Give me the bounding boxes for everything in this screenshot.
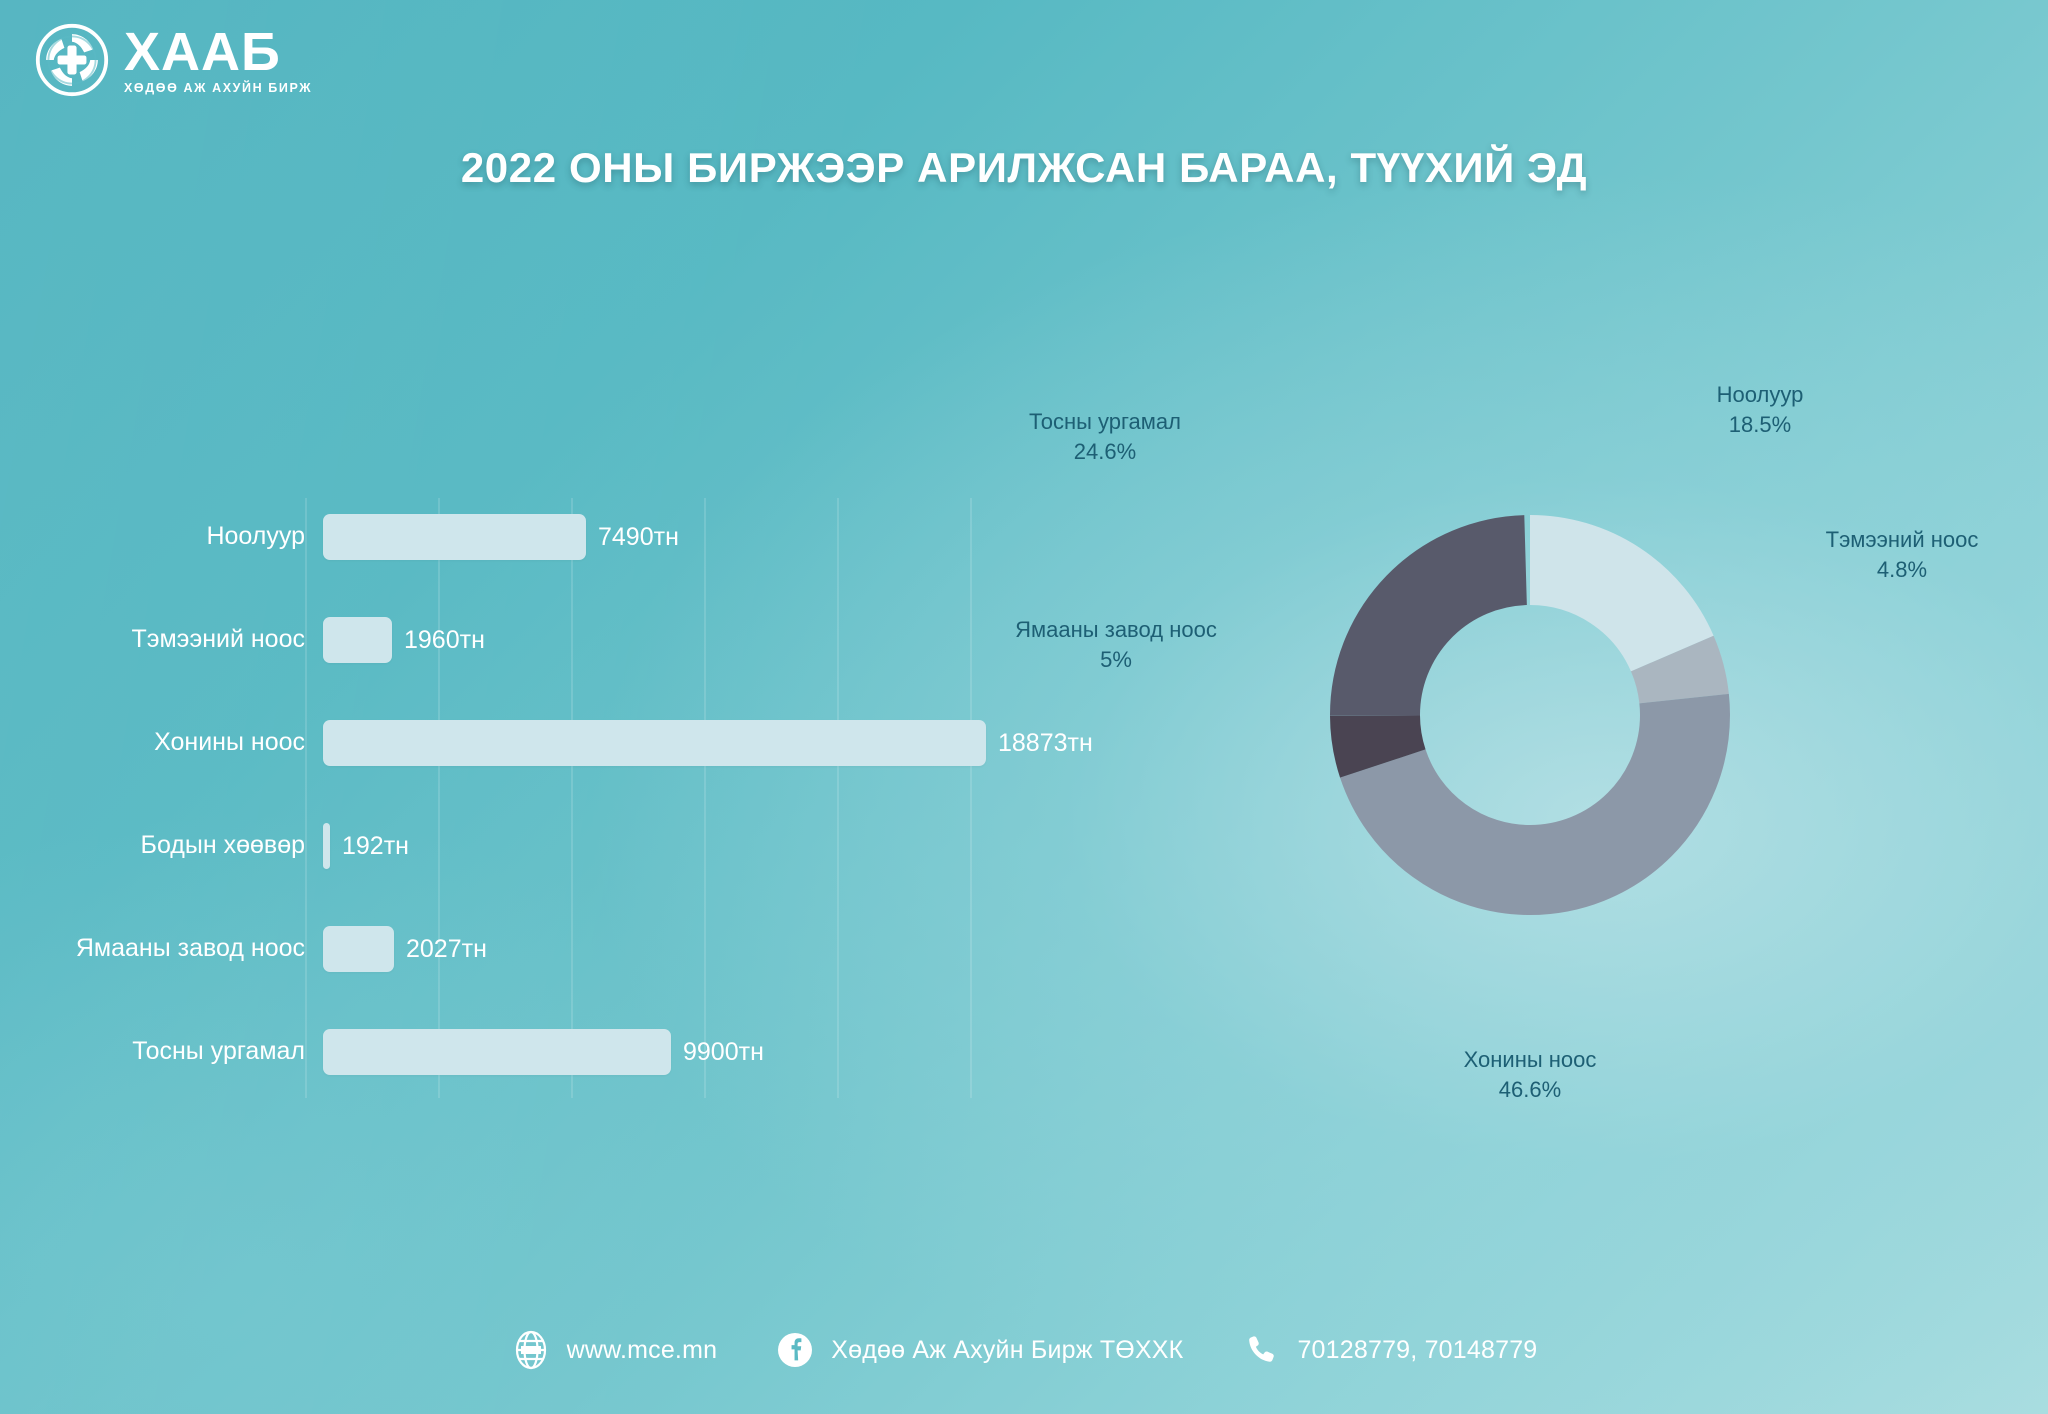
facebook-icon xyxy=(775,1330,815,1370)
pie-label-pct: 24.6% xyxy=(970,437,1240,467)
bar-row: Тэмээний ноос 1960тн xyxy=(60,601,1000,679)
bar-fill xyxy=(323,926,394,972)
bar-track: 7490тн xyxy=(323,498,1000,576)
bar-label: Бодын хөөвөр xyxy=(60,832,323,860)
brand-logo: ХААБ ХӨДӨӨ АЖ АХУЙН БИРЖ xyxy=(34,22,312,98)
bar-value: 7490тн xyxy=(598,523,679,552)
bar-value: 9900тн xyxy=(683,1038,764,1067)
bar-label: Ноолуур xyxy=(60,523,323,551)
bar-track: 2027тн xyxy=(323,910,1000,988)
phone-icon xyxy=(1241,1330,1281,1370)
bar-value: 192тн xyxy=(342,832,409,861)
bar-row: Бодын хөөвөр 192тн xyxy=(60,807,1000,885)
bar-fill xyxy=(323,1029,671,1075)
bar-track: 18873тн xyxy=(323,704,1093,782)
pie-label-text: Хонины ноос xyxy=(1464,1047,1597,1072)
footer-contact-bar: www.mce.mn Хөдөө Аж Ахуйн Бирж ТӨХХК 701… xyxy=(0,1330,2048,1370)
bar-fill xyxy=(323,823,330,869)
gridline xyxy=(438,498,440,1098)
bar-fill xyxy=(323,617,392,663)
bar-track: 9900тн xyxy=(323,1013,1000,1091)
bar-row: Ноолуур 7490тн xyxy=(60,498,1000,576)
gridline xyxy=(970,498,972,1098)
globe-icon xyxy=(511,1330,551,1370)
pie-label-tosny-urgamal: Тосны ургамал 24.6% xyxy=(970,407,1240,466)
pie-label-pct: 4.8% xyxy=(1782,555,2022,585)
bar-chart: Ноолуур 7490тн Тэмээний ноос 1960тн Хони… xyxy=(60,498,1000,1098)
footer-phone[interactable]: 70128779, 70148779 xyxy=(1241,1330,1537,1370)
brand-tagline: ХӨДӨӨ АЖ АХУЙН БИРЖ xyxy=(124,82,312,95)
footer-facebook[interactable]: Хөдөө Аж Ахуйн Бирж ТӨХХК xyxy=(775,1330,1183,1370)
pie-label-text: Ямааны завод ноос xyxy=(1015,617,1217,642)
bar-value: 1960тн xyxy=(404,626,485,655)
pie-label-text: Ноолуур xyxy=(1717,382,1804,407)
pie-label-yamaany-zavod-noos: Ямааны завод ноос 5% xyxy=(986,615,1246,674)
bar-label: Хонины ноос xyxy=(60,729,323,757)
bar-label: Тэмээний ноос xyxy=(60,626,323,654)
bar-fill xyxy=(323,720,986,766)
gridline xyxy=(837,498,839,1098)
bar-row: Хонины ноос 18873тн xyxy=(60,704,1000,782)
pie-label-text: Тосны ургамал xyxy=(1029,409,1181,434)
donut-chart: Ноолуур 18.5% Тэмээний ноос 4.8% Хонины … xyxy=(1030,455,2020,1075)
pie-label-pct: 46.6% xyxy=(1410,1075,1650,1105)
pie-label-text: Тэмээний ноос xyxy=(1826,527,1979,552)
gridline xyxy=(305,498,307,1098)
bar-row: Тосны ургамал 9900тн xyxy=(60,1013,1000,1091)
bar-value: 2027тн xyxy=(406,935,487,964)
bar-fill xyxy=(323,514,586,560)
pie-label-khoniny-noos: Хонины ноос 46.6% xyxy=(1410,1045,1650,1104)
footer-phone-text: 70128779, 70148779 xyxy=(1297,1336,1537,1365)
donut-chart-svg xyxy=(1270,455,1790,975)
bar-row: Ямааны завод ноос 2027тн xyxy=(60,910,1000,988)
bar-label: Тосны ургамал xyxy=(60,1038,323,1066)
footer-website-text: www.mce.mn xyxy=(567,1336,718,1365)
gridline xyxy=(571,498,573,1098)
bar-label: Ямааны завод ноос xyxy=(60,935,323,963)
pie-label-temeenii-noos: Тэмээний ноос 4.8% xyxy=(1782,525,2022,584)
pie-label-nooluur: Ноолуур 18.5% xyxy=(1645,380,1875,439)
bar-track: 1960тн xyxy=(323,601,1000,679)
circular-swirl-emblem-icon xyxy=(34,22,110,98)
bar-chart-gridlines xyxy=(60,498,1000,1098)
footer-website[interactable]: www.mce.mn xyxy=(511,1330,718,1370)
infographic-poster: ХААБ ХӨДӨӨ АЖ АХУЙН БИРЖ 2022 ОНЫ БИРЖЭЭ… xyxy=(0,0,2048,1414)
gridline xyxy=(704,498,706,1098)
footer-facebook-text: Хөдөө Аж Ахуйн Бирж ТӨХХК xyxy=(831,1336,1183,1365)
pie-label-pct: 5% xyxy=(986,645,1246,675)
brand-name: ХААБ xyxy=(124,25,312,79)
pie-label-pct: 18.5% xyxy=(1645,410,1875,440)
page-title: 2022 ОНЫ БИРЖЭЭР АРИЛЖСАН БАРАА, ТҮҮХИЙ … xyxy=(0,142,2048,193)
bar-track: 192тн xyxy=(323,807,1000,885)
